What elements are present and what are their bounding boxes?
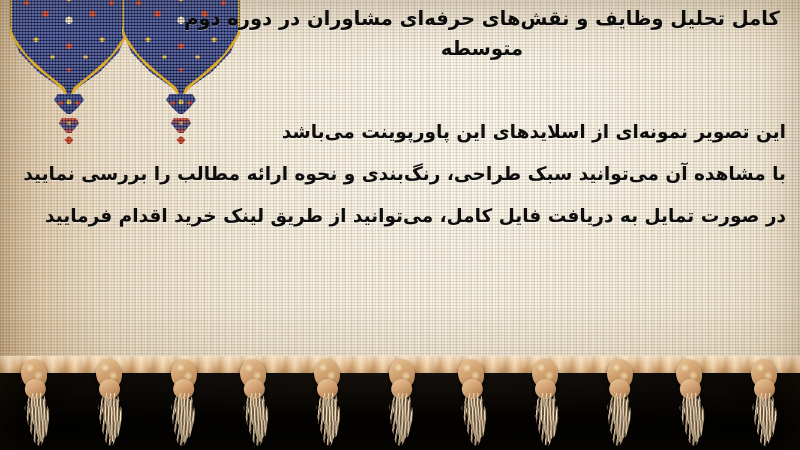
body-line-1: این تصویر نمونه‌ای از اسلایدهای این پاور… [14,112,786,154]
fringe-tassel [743,373,785,450]
fringe-tassel [88,373,130,450]
fringe-tassel [668,372,714,450]
slide-title: کامل تحلیل وظایف و نقش‌های حرفه‌ای مشاور… [182,4,782,64]
fringe-tassel [306,373,348,450]
body-line-3: در صورت تمایل به دریافت فایل کامل، می‌تو… [14,196,786,238]
fringe-tassel [159,372,205,450]
fringe-tassel [595,372,641,450]
slide-body: این تصویر نمونه‌ای از اسلایدهای این پاور… [14,112,786,238]
carpet-fringe-tassels [0,373,800,450]
slide-title-line-2: متوسطه [182,34,782,64]
fringe-tassel [232,372,278,450]
fringe-tassel [377,372,423,450]
medallion-body [10,0,128,98]
persian-medallion-icon [10,0,128,98]
body-line-2: با مشاهده آن می‌توانید سبک طراحی، رنگ‌بن… [14,154,786,196]
fringe-tassel [13,372,59,450]
presentation-slide: کامل تحلیل وظایف و نقش‌های حرفه‌ای مشاور… [0,0,800,450]
slide-title-line-1: کامل تحلیل وظایف و نقش‌های حرفه‌ای مشاور… [182,4,782,34]
fringe-tassel [450,372,496,450]
fringe-tassel [524,373,566,450]
